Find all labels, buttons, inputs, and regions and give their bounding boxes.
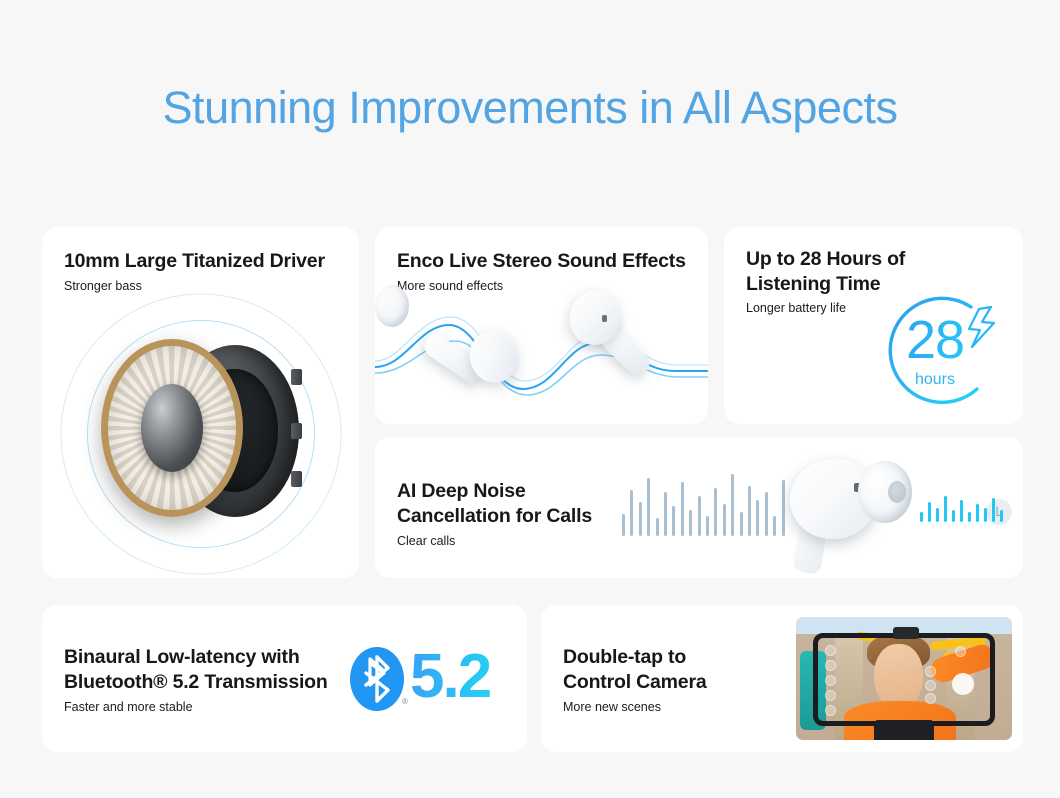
- noise-bar: [976, 504, 979, 522]
- card-camera-title: Double-tap to Control Camera: [563, 645, 706, 695]
- shutter-button[interactable]: [952, 673, 974, 695]
- phone-stand: [874, 720, 934, 740]
- battery-gauge: 28 hours: [876, 289, 1011, 419]
- earbud-ear-tip: [858, 461, 912, 523]
- bluetooth-icon: [350, 647, 404, 711]
- stereo-earbuds-illustration: [375, 285, 708, 424]
- noise-bar: [765, 492, 768, 536]
- battery-hours-unit: hours: [876, 371, 994, 389]
- card-camera[interactable]: Double-tap to Control Camera More new sc…: [541, 605, 1023, 752]
- driver-dome: [141, 384, 203, 472]
- noise-bar: [706, 516, 709, 536]
- speaker-driver-illustration: [42, 289, 359, 578]
- card-bluetooth-title: Binaural Low-latency with Bluetooth® 5.2…: [64, 645, 328, 695]
- noise-bar: [1000, 510, 1003, 522]
- page-title: Stunning Improvements in All Aspects: [0, 82, 1060, 134]
- noise-bar: [936, 508, 939, 522]
- driver-diaphragm: [101, 339, 243, 517]
- noise-bar: [714, 488, 717, 536]
- bluetooth-version: 5.2: [410, 641, 490, 712]
- noise-bar: [740, 512, 743, 536]
- camera-ui-icon: [825, 660, 836, 671]
- noise-bar: [639, 502, 642, 536]
- card-anc-subtitle: Clear calls: [397, 534, 455, 548]
- noise-bar: [698, 496, 701, 536]
- card-battery-subtitle: Longer battery life: [746, 301, 846, 315]
- noise-bar: [960, 500, 963, 522]
- magnet-tab: [291, 471, 302, 487]
- camera-mode-icon: [925, 693, 936, 704]
- noise-bar: [664, 492, 667, 536]
- noise-bar: [656, 518, 659, 536]
- noise-bar: [622, 514, 625, 536]
- camera-mode-icon: [925, 680, 936, 691]
- card-stereo[interactable]: Enco Live Stereo Sound Effects More soun…: [375, 227, 708, 424]
- card-bluetooth-subtitle: Faster and more stable: [64, 700, 193, 714]
- noise-bar: [689, 510, 692, 536]
- driver-assembly: [101, 339, 301, 529]
- noise-bar: [920, 512, 923, 522]
- camera-ui-icon: [825, 645, 836, 656]
- noise-bar: [731, 474, 734, 536]
- card-anc[interactable]: AI Deep Noise Cancellation for Calls Cle…: [375, 437, 1023, 578]
- noise-bar: [968, 512, 971, 522]
- card-bluetooth[interactable]: Binaural Low-latency with Bluetooth® 5.2…: [42, 605, 527, 752]
- noise-bar: [630, 490, 633, 536]
- noise-bar: [647, 478, 650, 536]
- noise-bar: [723, 504, 726, 536]
- bluetooth-logo: ® 5.2: [350, 645, 522, 713]
- feature-highlights-page: Stunning Improvements in All Aspects 10m…: [0, 0, 1060, 798]
- selfie-photo: [796, 617, 1012, 740]
- card-driver[interactable]: 10mm Large Titanized Driver Stronger bas…: [42, 227, 359, 578]
- earbud-side-label: L: [986, 499, 1012, 525]
- magnet-tab: [291, 423, 302, 439]
- camera-ui-icon: [825, 675, 836, 686]
- noise-bar: [952, 510, 955, 522]
- noise-bar: [984, 508, 987, 522]
- noise-bar: [748, 486, 751, 536]
- phone-frame: [813, 633, 994, 726]
- noise-bar: [672, 506, 675, 536]
- battery-hours-value: 28: [876, 309, 994, 371]
- noise-bar: [681, 482, 684, 536]
- noise-bar: [773, 516, 776, 536]
- camera-mode-icon: [925, 666, 936, 677]
- card-stereo-title: Enco Live Stereo Sound Effects: [397, 249, 686, 274]
- popup-camera-module: [893, 627, 919, 639]
- camera-ui-icon: [825, 705, 836, 716]
- sound-wave-icon: [375, 285, 708, 424]
- card-camera-subtitle: More new scenes: [563, 700, 661, 714]
- noise-bar: [782, 480, 785, 536]
- anc-illustration: L: [620, 437, 1023, 578]
- card-battery[interactable]: Up to 28 Hours of Listening Time Longer …: [724, 227, 1023, 424]
- magnet-tab: [291, 369, 302, 385]
- noise-bar: [756, 500, 759, 536]
- bluetooth-rune-icon: [350, 647, 404, 711]
- noise-bar: [992, 498, 995, 522]
- card-driver-title: 10mm Large Titanized Driver: [64, 249, 325, 274]
- noise-bar: [944, 496, 947, 522]
- camera-flash-icon: [955, 646, 966, 657]
- earbud-mic-dot: [602, 315, 607, 322]
- camera-ui-icon: [825, 690, 836, 701]
- card-anc-title: AI Deep Noise Cancellation for Calls: [397, 479, 592, 529]
- noise-bar: [928, 502, 931, 522]
- registered-mark: ®: [402, 697, 408, 706]
